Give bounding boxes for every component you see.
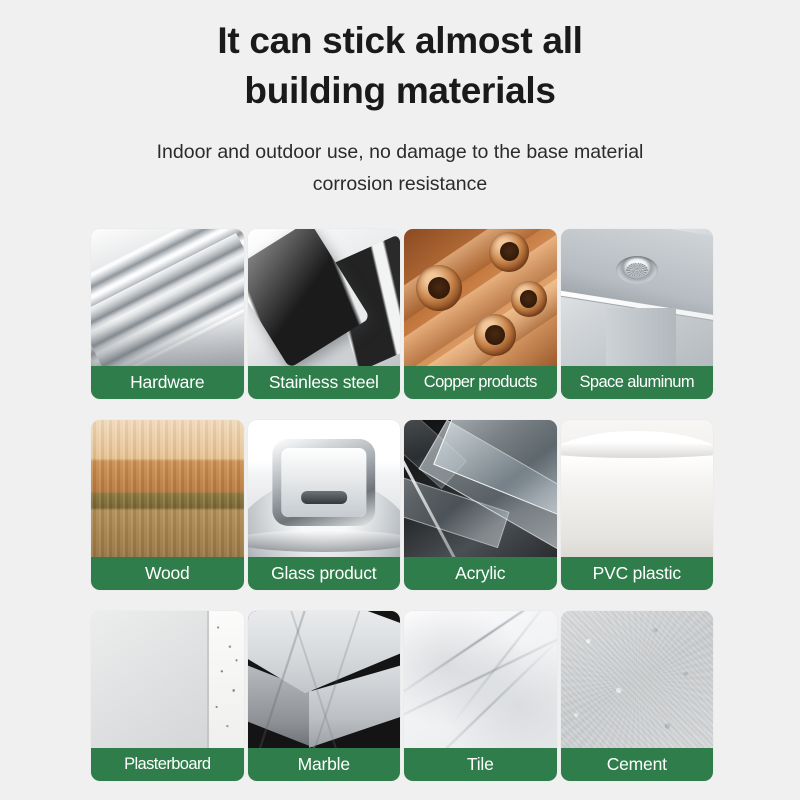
page-subtitle: Indoor and outdoor use, no damage to the… (0, 137, 800, 200)
subtitle-line-1: Indoor and outdoor use, no damage to the… (0, 137, 800, 169)
materials-grid: Hardware Stainless steel (91, 229, 713, 781)
copper-products-photo (404, 229, 557, 366)
materials-row: Wood Glass product (91, 420, 713, 590)
material-label: Marble (248, 748, 401, 781)
materials-row: Plasterboard Marble (91, 611, 713, 781)
material-tile-hardware[interactable]: Hardware (91, 229, 244, 399)
material-label: Tile (404, 748, 557, 781)
material-tile-wood[interactable]: Wood (91, 420, 244, 590)
subtitle-line-2: corrosion resistance (0, 169, 800, 201)
plasterboard-photo (91, 611, 244, 748)
material-tile-stainless-steel[interactable]: Stainless steel (248, 229, 401, 399)
acrylic-photo (404, 420, 557, 557)
material-tile-plasterboard[interactable]: Plasterboard (91, 611, 244, 781)
material-label: Wood (91, 557, 244, 590)
material-label: Plasterboard (91, 748, 244, 781)
glass-product-photo (248, 420, 401, 557)
materials-row: Hardware Stainless steel (91, 229, 713, 399)
wood-photo (91, 420, 244, 557)
headline-line-2: building materials (0, 66, 800, 116)
material-label: Cement (561, 748, 714, 781)
material-label: PVC plastic (561, 557, 714, 590)
material-label: Space aluminum (561, 366, 714, 399)
material-label: Acrylic (404, 557, 557, 590)
material-label: Copper products (404, 366, 557, 399)
page-title: It can stick almost all building materia… (0, 16, 800, 115)
material-label: Hardware (91, 366, 244, 399)
tile-photo (404, 611, 557, 748)
space-aluminum-photo (561, 229, 714, 366)
material-tile-pvc-plastic[interactable]: PVC plastic (561, 420, 714, 590)
material-tile-cement[interactable]: Cement (561, 611, 714, 781)
material-tile-acrylic[interactable]: Acrylic (404, 420, 557, 590)
material-tile-tile[interactable]: Tile (404, 611, 557, 781)
material-tile-glass-product[interactable]: Glass product (248, 420, 401, 590)
material-tile-space-aluminum[interactable]: Space aluminum (561, 229, 714, 399)
promo-page: It can stick almost all building materia… (0, 0, 800, 800)
material-label: Glass product (248, 557, 401, 590)
material-tile-marble[interactable]: Marble (248, 611, 401, 781)
pvc-plastic-photo (561, 420, 714, 557)
marble-photo (248, 611, 401, 748)
header: It can stick almost all building materia… (0, 0, 800, 200)
hardware-photo (91, 229, 244, 366)
material-label: Stainless steel (248, 366, 401, 399)
stainless-steel-photo (248, 229, 401, 366)
cement-photo (561, 611, 714, 748)
material-tile-copper-products[interactable]: Copper products (404, 229, 557, 399)
headline-line-1: It can stick almost all (0, 16, 800, 66)
